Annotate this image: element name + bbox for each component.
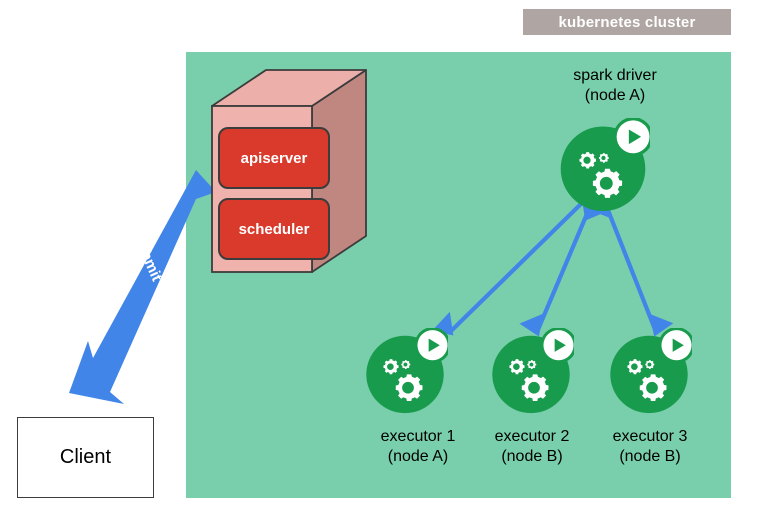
executor-1-node [366, 327, 450, 413]
spark-driver-node [561, 117, 653, 211]
spark-driver-label: spark driver (node A) [520, 66, 710, 105]
spark-submit-arrow [69, 170, 216, 404]
spark-driver-name: spark driver [520, 66, 710, 86]
link-driver-executor-2 [520, 194, 608, 341]
scheduler-label: scheduler [218, 203, 330, 255]
kubernetes-cluster-badge: kubernetes cluster [523, 9, 731, 35]
executor-2-node [492, 327, 576, 413]
link-driver-executor-3 [588, 192, 673, 340]
link-driver-executor-1 [432, 189, 602, 342]
client-box: Client [17, 417, 154, 498]
apiserver-label: apiserver [218, 132, 330, 184]
executor-3-label: executor 3 (node B) [570, 427, 730, 466]
executor-3-node-name: (node B) [570, 447, 730, 467]
spark-driver-node-name: (node A) [520, 86, 710, 106]
driver-executor-links [432, 189, 672, 342]
executor-3-node [610, 327, 694, 413]
executor-3-name: executor 3 [570, 427, 730, 447]
